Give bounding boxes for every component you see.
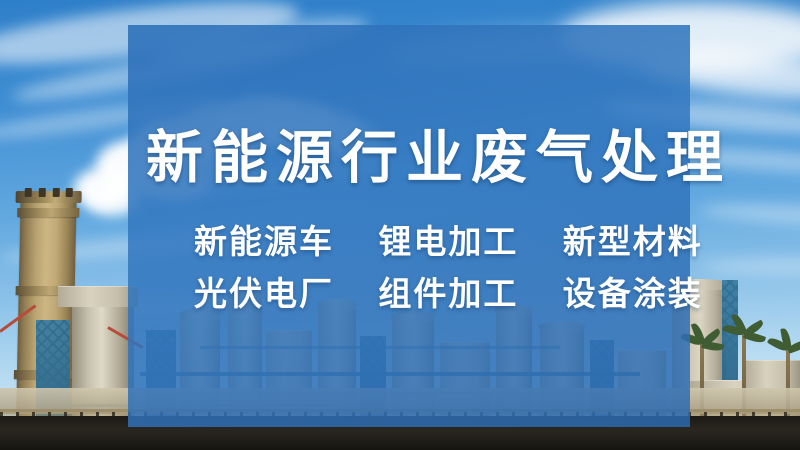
duct-hood [58, 286, 138, 307]
subtitle-2-item-2: 组件加工 [378, 275, 518, 312]
subtitle-2-item-3: 设备涂装 [563, 275, 703, 312]
subtitle-line-1: 新能源车 锂电加工 新型材料 [194, 222, 703, 262]
subtitle-1-item-2: 锂电加工 [378, 223, 518, 260]
subtitle-line-2: 光伏电厂 组件加工 设备涂装 [194, 274, 703, 314]
page-title: 新能源行业废气处理 [146, 127, 676, 189]
subtitle-1-item-3: 新型材料 [563, 223, 703, 260]
subtitle-1-item-1: 新能源车 [194, 223, 334, 260]
subtitle-2-item-1: 光伏电厂 [194, 275, 334, 312]
banner-image: 新能源行业废气处理 新能源车 锂电加工 新型材料 光伏电厂 组件加工 设备涂装 [0, 0, 800, 450]
crane-boom [0, 304, 36, 332]
